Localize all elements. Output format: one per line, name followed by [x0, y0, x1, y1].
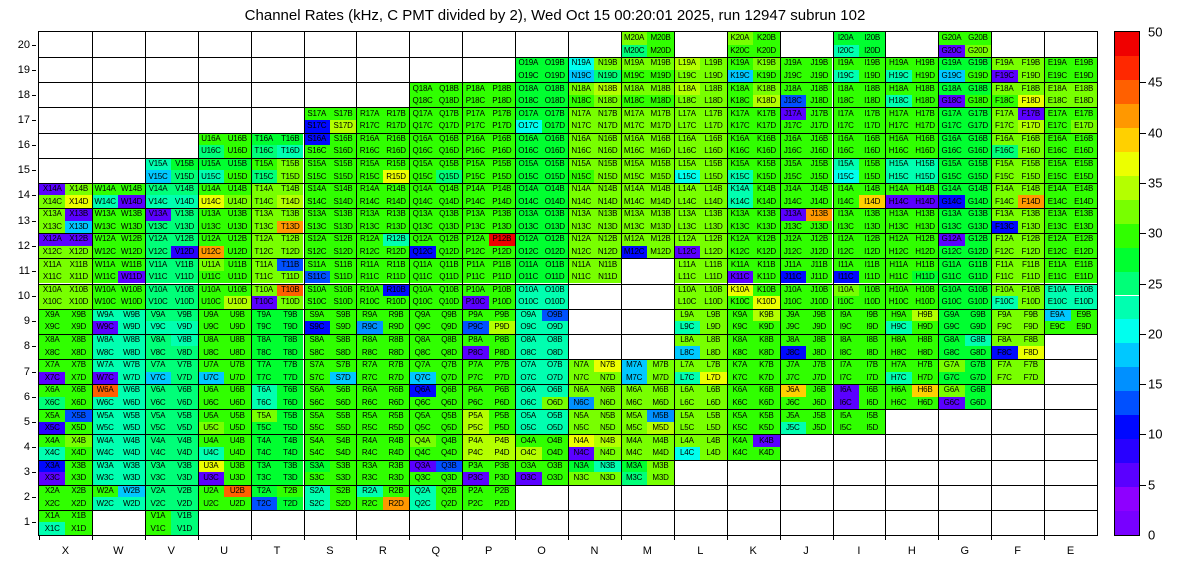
channel-K18D[interactable]: K18D [753, 95, 779, 108]
channel-Q4A[interactable]: Q4A [409, 434, 435, 447]
channel-E13A[interactable]: E13A [1044, 208, 1070, 221]
channel-V10A[interactable]: V10A [145, 284, 171, 297]
channel-G15B[interactable]: G15B [965, 158, 991, 171]
channel-O3B[interactable]: O3B [542, 460, 568, 473]
channel-W5C[interactable]: W5C [92, 422, 118, 435]
channel-N7A[interactable]: N7A [568, 359, 594, 372]
channel-G17C[interactable]: G17C [938, 120, 964, 133]
heatmap-cell[interactable]: I7AI7BI7CI7D [833, 359, 886, 384]
channel-E18A[interactable]: E18A [1044, 82, 1070, 95]
heatmap-cell[interactable]: V6AV6BV6CV6D [145, 384, 198, 409]
channel-rate-heatmap[interactable]: M20AM20BM20CM20DK20AK20BK20CK20DI20AI20B… [38, 31, 1098, 536]
channel-F12B[interactable]: F12B [1018, 233, 1044, 246]
channel-W11A[interactable]: W11A [92, 258, 118, 271]
channel-N16B[interactable]: N16B [594, 133, 620, 146]
heatmap-cell[interactable]: F10AF10BF10CF10D [991, 284, 1044, 309]
channel-R17C[interactable]: R17C [356, 120, 382, 133]
channel-V14B[interactable]: V14B [171, 183, 197, 196]
channel-X7D[interactable]: X7D [65, 372, 91, 385]
channel-S3B[interactable]: S3B [330, 460, 356, 473]
channel-T9A[interactable]: T9A [251, 309, 277, 322]
channel-P2A[interactable]: P2A [462, 485, 488, 498]
channel-X2C[interactable]: X2C [39, 497, 65, 510]
channel-T11C[interactable]: T11C [251, 271, 277, 284]
channel-N11D[interactable]: N11D [594, 271, 620, 284]
channel-V11C[interactable]: V11C [145, 271, 171, 284]
channel-U9B[interactable]: U9B [224, 309, 250, 322]
channel-R4D[interactable]: R4D [383, 447, 409, 460]
channel-U6D[interactable]: U6D [224, 397, 250, 410]
channel-M7D[interactable]: M7D [647, 372, 673, 385]
channel-K9C[interactable]: K9C [727, 321, 753, 334]
heatmap-cell[interactable]: R8AR8BR8CR8D [356, 334, 409, 359]
channel-M4B[interactable]: M4B [647, 434, 673, 447]
channel-O4A[interactable]: O4A [515, 434, 541, 447]
channel-I12C[interactable]: I12C [833, 246, 859, 259]
channel-V10B[interactable]: V10B [171, 284, 197, 297]
channel-S14D[interactable]: S14D [330, 195, 356, 208]
heatmap-cell[interactable]: I20AI20BI20CI20D [833, 32, 886, 57]
channel-J7B[interactable]: J7B [806, 359, 832, 372]
heatmap-cell[interactable]: V13AV13BV13CV13D [145, 208, 198, 233]
channel-P11D[interactable]: P11D [489, 271, 515, 284]
heatmap-cell[interactable]: F16AF16BF16CF16D [991, 133, 1044, 158]
channel-H18B[interactable]: H18B [912, 82, 938, 95]
heatmap-cell[interactable]: P18AP18BP18CP18D [462, 82, 515, 107]
heatmap-cell[interactable]: I19AI19BI19CI19D [833, 57, 886, 82]
heatmap-cell[interactable]: Q16AQ16BQ16CQ16D [409, 133, 462, 158]
channel-L16C[interactable]: L16C [674, 145, 700, 158]
channel-H19D[interactable]: H19D [912, 70, 938, 83]
heatmap-cell[interactable]: R4AR4BR4CR4D [356, 434, 409, 459]
channel-O5C[interactable]: O5C [515, 422, 541, 435]
channel-E16C[interactable]: E16C [1044, 145, 1070, 158]
channel-M6D[interactable]: M6D [647, 397, 673, 410]
heatmap-cell[interactable]: L4AL4BL4CL4D [674, 434, 727, 459]
heatmap-cell[interactable]: F12AF12BF12CF12D [991, 233, 1044, 258]
channel-U9D[interactable]: U9D [224, 321, 250, 334]
channel-L12B[interactable]: L12B [700, 233, 726, 246]
channel-Q15C[interactable]: Q15C [409, 170, 435, 183]
heatmap-cell[interactable]: W5AW5BW5CW5D [92, 409, 145, 434]
channel-M7A[interactable]: M7A [621, 359, 647, 372]
heatmap-cell[interactable]: X1AX1BX1CX1D [39, 510, 92, 535]
heatmap-cell[interactable]: L11AL11BL11CL11D [674, 258, 727, 283]
heatmap-cell[interactable]: G17AG17BG17CG17D [938, 107, 991, 132]
channel-X6A[interactable]: X6A [39, 384, 65, 397]
channel-V13C[interactable]: V13C [145, 221, 171, 234]
channel-X9D[interactable]: X9D [65, 321, 91, 334]
channel-X9A[interactable]: X9A [39, 309, 65, 322]
channel-T11A[interactable]: T11A [251, 258, 277, 271]
channel-W14D[interactable]: W14D [118, 195, 144, 208]
channel-F13C[interactable]: F13C [991, 221, 1017, 234]
channel-P17B[interactable]: P17B [489, 107, 515, 120]
heatmap-cell[interactable]: K10AK10BK10CK10D [727, 284, 780, 309]
channel-S14B[interactable]: S14B [330, 183, 356, 196]
channel-P15A[interactable]: P15A [462, 158, 488, 171]
channel-F14B[interactable]: F14B [1018, 183, 1044, 196]
channel-Q18D[interactable]: Q18D [436, 95, 462, 108]
heatmap-cell[interactable]: P8AP8BP8CP8D [462, 334, 515, 359]
channel-G11D[interactable]: G11D [965, 271, 991, 284]
channel-K17B[interactable]: K17B [753, 107, 779, 120]
channel-O3C[interactable]: O3C [515, 472, 541, 485]
channel-J6D[interactable]: J6D [806, 397, 832, 410]
heatmap-cell[interactable]: H8AH8BH8CH8D [885, 334, 938, 359]
channel-L18C[interactable]: L18C [674, 95, 700, 108]
channel-J17A[interactable]: J17A [780, 107, 806, 120]
channel-G17A[interactable]: G17A [938, 107, 964, 120]
channel-H8D[interactable]: H8D [912, 346, 938, 359]
channel-P17D[interactable]: P17D [489, 120, 515, 133]
channel-I14A[interactable]: I14A [833, 183, 859, 196]
heatmap-cell[interactable]: P9AP9BP9CP9D [462, 309, 515, 334]
channel-O15C[interactable]: O15C [515, 170, 541, 183]
channel-W7A[interactable]: W7A [92, 359, 118, 372]
channel-E15C[interactable]: E15C [1044, 170, 1070, 183]
heatmap-cell[interactable]: J13AJ13BJ13CJ13D [780, 208, 833, 233]
channel-P17C[interactable]: P17C [462, 120, 488, 133]
channel-R2C[interactable]: R2C [356, 497, 382, 510]
channel-L7B[interactable]: L7B [700, 359, 726, 372]
channel-N7D[interactable]: N7D [594, 372, 620, 385]
channel-U9A[interactable]: U9A [198, 309, 224, 322]
heatmap-cell[interactable]: Q2AQ2BQ2CQ2D [409, 485, 462, 510]
channel-L19B[interactable]: L19B [700, 57, 726, 70]
channel-P4B[interactable]: P4B [489, 434, 515, 447]
channel-S13C[interactable]: S13C [304, 221, 330, 234]
heatmap-cell[interactable]: J10AJ10BJ10CJ10D [780, 284, 833, 309]
channel-T14C[interactable]: T14C [251, 195, 277, 208]
channel-X1A[interactable]: X1A [39, 510, 65, 523]
channel-I5B[interactable]: I5B [859, 409, 885, 422]
heatmap-cell[interactable]: G11AG11BG11CG11D [938, 258, 991, 283]
channel-T15B[interactable]: T15B [277, 158, 303, 171]
channel-Q2A[interactable]: Q2A [409, 485, 435, 498]
channel-Q3C[interactable]: Q3C [409, 472, 435, 485]
channel-R12C[interactable]: R12C [356, 246, 382, 259]
channel-O5D[interactable]: O5D [542, 422, 568, 435]
heatmap-cell[interactable]: L17AL17BL17CL17D [674, 107, 727, 132]
channel-N15D[interactable]: N15D [594, 170, 620, 183]
channel-I13A[interactable]: I13A [833, 208, 859, 221]
channel-J11C[interactable]: J11C [780, 271, 806, 284]
channel-V8C[interactable]: V8C [145, 346, 171, 359]
channel-U7C[interactable]: U7C [198, 372, 224, 385]
channel-V4B[interactable]: V4B [171, 434, 197, 447]
channel-E18C[interactable]: E18C [1044, 95, 1070, 108]
channel-H11A[interactable]: H11A [885, 258, 911, 271]
channel-K10A[interactable]: K10A [727, 284, 753, 297]
channel-N3A[interactable]: N3A [568, 460, 594, 473]
channel-K14A[interactable]: K14A [727, 183, 753, 196]
channel-J6A[interactable]: J6A [780, 384, 806, 397]
channel-T8D[interactable]: T8D [277, 346, 303, 359]
heatmap-cell[interactable]: V11AV11BV11CV11D [145, 258, 198, 283]
channel-I8A[interactable]: I8A [833, 334, 859, 347]
channel-U3A[interactable]: U3A [198, 460, 224, 473]
channel-G17B[interactable]: G17B [965, 107, 991, 120]
channel-H19B[interactable]: H19B [912, 57, 938, 70]
channel-P15C[interactable]: P15C [462, 170, 488, 183]
heatmap-cell[interactable]: U4AU4BU4CU4D [198, 434, 251, 459]
channel-K20B[interactable]: K20B [753, 32, 779, 45]
channel-Q8D[interactable]: Q8D [436, 346, 462, 359]
channel-U9C[interactable]: U9C [198, 321, 224, 334]
channel-S8D[interactable]: S8D [330, 346, 356, 359]
channel-W9C[interactable]: W9C [92, 321, 118, 334]
channel-V3A[interactable]: V3A [145, 460, 171, 473]
heatmap-cell[interactable]: U6AU6BU6CU6D [198, 384, 251, 409]
heatmap-cell[interactable]: H10AH10BH10CH10D [885, 284, 938, 309]
channel-L12A[interactable]: L12A [674, 233, 700, 246]
heatmap-cell[interactable]: O13AO13BO13CO13D [515, 208, 568, 233]
channel-T16A[interactable]: T16A [251, 133, 277, 146]
heatmap-cell[interactable]: N19AN19BN19CN19D [568, 57, 621, 82]
channel-Q5A[interactable]: Q5A [409, 409, 435, 422]
channel-R5D[interactable]: R5D [383, 422, 409, 435]
channel-O19B[interactable]: O19B [542, 57, 568, 70]
channel-Q12C[interactable]: Q12C [409, 246, 435, 259]
channel-K4D[interactable]: K4D [753, 447, 779, 460]
channel-R12B[interactable]: R12B [383, 233, 409, 246]
channel-W3C[interactable]: W3C [92, 472, 118, 485]
channel-P11A[interactable]: P11A [462, 258, 488, 271]
heatmap-cell[interactable]: I11AI11BI11CI11D [833, 258, 886, 283]
channel-E17A[interactable]: E17A [1044, 107, 1070, 120]
channel-V6C[interactable]: V6C [145, 397, 171, 410]
heatmap-cell[interactable]: P11AP11BP11CP11D [462, 258, 515, 283]
heatmap-cell[interactable]: J19AJ19BJ19CJ19D [780, 57, 833, 82]
heatmap-cell[interactable]: K17AK17BK17CK17D [727, 107, 780, 132]
heatmap-cell[interactable]: I13AI13BI13CI13D [833, 208, 886, 233]
channel-J14A[interactable]: J14A [780, 183, 806, 196]
heatmap-cell[interactable]: X14AX14BX14CX14D [39, 183, 92, 208]
heatmap-cell[interactable]: N15AN15BN15CN15D [568, 158, 621, 183]
channel-V6A[interactable]: V6A [145, 384, 171, 397]
channel-K9A[interactable]: K9A [727, 309, 753, 322]
channel-R2A[interactable]: R2A [356, 485, 382, 498]
channel-P18B[interactable]: P18B [489, 82, 515, 95]
channel-L4A[interactable]: L4A [674, 434, 700, 447]
heatmap-cell[interactable]: P15AP15BP15CP15D [462, 158, 515, 183]
heatmap-cell[interactable]: J8AJ8BJ8CJ8D [780, 334, 833, 359]
channel-O13C[interactable]: O13C [515, 221, 541, 234]
channel-R2B[interactable]: R2B [383, 485, 409, 498]
channel-G20C[interactable]: G20C [938, 45, 964, 58]
channel-M12A[interactable]: M12A [621, 233, 647, 246]
heatmap-cell[interactable]: U3AU3BU3CU3D [198, 460, 251, 485]
channel-I20C[interactable]: I20C [833, 45, 859, 58]
channel-G15D[interactable]: G15D [965, 170, 991, 183]
channel-U15A[interactable]: U15A [198, 158, 224, 171]
channel-K14C[interactable]: K14C [727, 195, 753, 208]
heatmap-cell[interactable]: E12AE12BE12CE12D [1044, 233, 1097, 258]
heatmap-cell[interactable]: R3AR3BR3CR3D [356, 460, 409, 485]
heatmap-cell[interactable]: T5AT5BT5CT5D [251, 409, 304, 434]
heatmap-cell[interactable]: F7AF7BF7CF7D [991, 359, 1044, 384]
channel-J11B[interactable]: J11B [806, 258, 832, 271]
channel-J14C[interactable]: J14C [780, 195, 806, 208]
channel-K19B[interactable]: K19B [753, 57, 779, 70]
heatmap-cell[interactable]: P13AP13BP13CP13D [462, 208, 515, 233]
channel-P17A[interactable]: P17A [462, 107, 488, 120]
heatmap-cell[interactable]: L16AL16BL16CL16D [674, 133, 727, 158]
channel-V1B[interactable]: V1B [171, 510, 197, 523]
channel-S17A[interactable]: S17A [304, 107, 330, 120]
channel-O18D[interactable]: O18D [542, 95, 568, 108]
channel-G18A[interactable]: G18A [938, 82, 964, 95]
channel-J17C[interactable]: J17C [780, 120, 806, 133]
channel-G19C[interactable]: G19C [938, 70, 964, 83]
channel-V15D[interactable]: V15D [171, 170, 197, 183]
channel-K17C[interactable]: K17C [727, 120, 753, 133]
channel-L19C[interactable]: L19C [674, 70, 700, 83]
channel-I18C[interactable]: I18C [833, 95, 859, 108]
channel-S3C[interactable]: S3C [304, 472, 330, 485]
heatmap-cell[interactable]: H11AH11BH11CH11D [885, 258, 938, 283]
channel-V11B[interactable]: V11B [171, 258, 197, 271]
channel-G7C[interactable]: G7C [938, 372, 964, 385]
channel-O8A[interactable]: O8A [515, 334, 541, 347]
channel-I19C[interactable]: I19C [833, 70, 859, 83]
heatmap-cell[interactable]: H18AH18BH18CH18D [885, 82, 938, 107]
channel-W12A[interactable]: W12A [92, 233, 118, 246]
channel-F17D[interactable]: F17D [1018, 120, 1044, 133]
channel-M5B[interactable]: M5B [647, 409, 673, 422]
channel-V5D[interactable]: V5D [171, 422, 197, 435]
channel-F11A[interactable]: F11A [991, 258, 1017, 271]
channel-O7D[interactable]: O7D [542, 372, 568, 385]
channel-V6D[interactable]: V6D [171, 397, 197, 410]
channel-R5C[interactable]: R5C [356, 422, 382, 435]
channel-X8D[interactable]: X8D [65, 346, 91, 359]
heatmap-cell[interactable]: K13AK13BK13CK13D [727, 208, 780, 233]
heatmap-cell[interactable]: V12AV12BV12CV12D [145, 233, 198, 258]
channel-X14B[interactable]: X14B [65, 183, 91, 196]
heatmap-cell[interactable]: X13AX13BX13CX13D [39, 208, 92, 233]
channel-V2A[interactable]: V2A [145, 485, 171, 498]
heatmap-cell[interactable]: O17AO17BO17CO17D [515, 107, 568, 132]
channel-M18B[interactable]: M18B [647, 82, 673, 95]
channel-I15B[interactable]: I15B [859, 158, 885, 171]
channel-U14C[interactable]: U14C [198, 195, 224, 208]
channel-S12C[interactable]: S12C [304, 246, 330, 259]
channel-O3A[interactable]: O3A [515, 460, 541, 473]
channel-S5D[interactable]: S5D [330, 422, 356, 435]
channel-I9D[interactable]: I9D [859, 321, 885, 334]
channel-G20A[interactable]: G20A [938, 32, 964, 45]
channel-I19A[interactable]: I19A [833, 57, 859, 70]
channel-K7A[interactable]: K7A [727, 359, 753, 372]
channel-I19D[interactable]: I19D [859, 70, 885, 83]
channel-U8A[interactable]: U8A [198, 334, 224, 347]
channel-R11D[interactable]: R11D [383, 271, 409, 284]
channel-O9C[interactable]: O9C [515, 321, 541, 334]
channel-E16B[interactable]: E16B [1071, 133, 1097, 146]
channel-M14B[interactable]: M14B [647, 183, 673, 196]
channel-G9A[interactable]: G9A [938, 309, 964, 322]
heatmap-cell[interactable]: L9AL9BL9CL9D [674, 309, 727, 334]
channel-F14C[interactable]: F14C [991, 195, 1017, 208]
channel-X14D[interactable]: X14D [65, 195, 91, 208]
channel-Q17C[interactable]: Q17C [409, 120, 435, 133]
channel-T5C[interactable]: T5C [251, 422, 277, 435]
channel-V4D[interactable]: V4D [171, 447, 197, 460]
channel-M16C[interactable]: M16C [621, 145, 647, 158]
channel-W3D[interactable]: W3D [118, 472, 144, 485]
channel-N6D[interactable]: N6D [594, 397, 620, 410]
channel-V9C[interactable]: V9C [145, 321, 171, 334]
channel-Q6C[interactable]: Q6C [409, 397, 435, 410]
channel-Q11A[interactable]: Q11A [409, 258, 435, 271]
heatmap-cell[interactable]: U2AU2BU2CU2D [198, 485, 251, 510]
heatmap-cell[interactable]: K4AK4BK4CK4D [727, 434, 780, 459]
channel-H19C[interactable]: H19C [885, 70, 911, 83]
channel-U13B[interactable]: U13B [224, 208, 250, 221]
heatmap-cell[interactable]: N4AN4BN4CN4D [568, 434, 621, 459]
channel-S10C[interactable]: S10C [304, 296, 330, 309]
channel-L5C[interactable]: L5C [674, 422, 700, 435]
channel-X3D[interactable]: X3D [65, 472, 91, 485]
channel-K14B[interactable]: K14B [753, 183, 779, 196]
channel-X9C[interactable]: X9C [39, 321, 65, 334]
channel-P18D[interactable]: P18D [489, 95, 515, 108]
heatmap-cell[interactable]: H19AH19BH19CH19D [885, 57, 938, 82]
channel-U16C[interactable]: U16C [198, 145, 224, 158]
channel-J15B[interactable]: J15B [806, 158, 832, 171]
channel-R4C[interactable]: R4C [356, 447, 382, 460]
channel-O13B[interactable]: O13B [542, 208, 568, 221]
channel-W5D[interactable]: W5D [118, 422, 144, 435]
heatmap-cell[interactable]: L10AL10BL10CL10D [674, 284, 727, 309]
heatmap-cell[interactable]: Q9AQ9BQ9CQ9D [409, 309, 462, 334]
heatmap-cell[interactable]: E15AE15BE15CE15D [1044, 158, 1097, 183]
channel-N16C[interactable]: N16C [568, 145, 594, 158]
heatmap-cell[interactable]: N14AN14BN14CN14D [568, 183, 621, 208]
heatmap-cell[interactable]: G14AG14BG14CG14D [938, 183, 991, 208]
heatmap-cell[interactable]: W4AW4BW4CW4D [92, 434, 145, 459]
channel-J12C[interactable]: J12C [780, 246, 806, 259]
channel-O17D[interactable]: O17D [542, 120, 568, 133]
channel-U6A[interactable]: U6A [198, 384, 224, 397]
channel-R14D[interactable]: R14D [383, 195, 409, 208]
channel-L13B[interactable]: L13B [700, 208, 726, 221]
channel-U12C[interactable]: U12C [198, 246, 224, 259]
channel-F14A[interactable]: F14A [991, 183, 1017, 196]
channel-F10A[interactable]: F10A [991, 284, 1017, 297]
channel-I20D[interactable]: I20D [859, 45, 885, 58]
channel-U4B[interactable]: U4B [224, 434, 250, 447]
channel-Q7B[interactable]: Q7B [436, 359, 462, 372]
channel-T4C[interactable]: T4C [251, 447, 277, 460]
channel-W2C[interactable]: W2C [92, 497, 118, 510]
channel-P2B[interactable]: P2B [489, 485, 515, 498]
channel-I8C[interactable]: I8C [833, 346, 859, 359]
channel-R7B[interactable]: R7B [383, 359, 409, 372]
heatmap-cell[interactable]: G12AG12BG12CG12D [938, 233, 991, 258]
channel-N18A[interactable]: N18A [568, 82, 594, 95]
channel-T16C[interactable]: T16C [251, 145, 277, 158]
channel-S9D[interactable]: S9D [330, 321, 356, 334]
channel-M17C[interactable]: M17C [621, 120, 647, 133]
channel-G16A[interactable]: G16A [938, 133, 964, 146]
channel-O17A[interactable]: O17A [515, 107, 541, 120]
channel-H10D[interactable]: H10D [912, 296, 938, 309]
channel-M15C[interactable]: M15C [621, 170, 647, 183]
channel-L13A[interactable]: L13A [674, 208, 700, 221]
